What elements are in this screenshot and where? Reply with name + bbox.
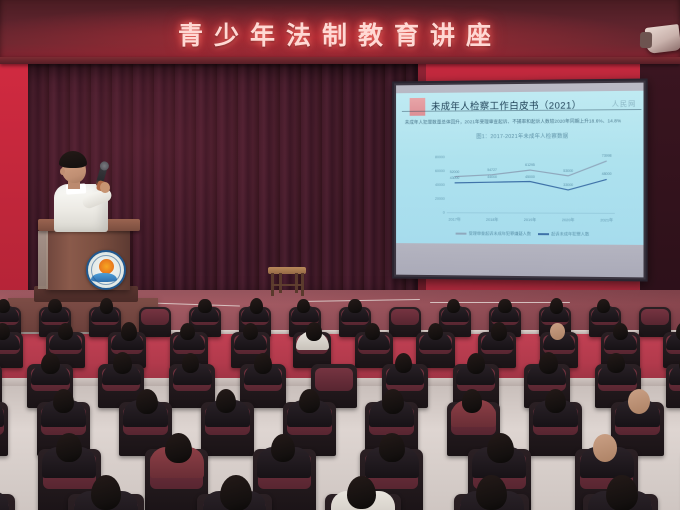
audience-member-head xyxy=(136,389,158,415)
screen-blank-area xyxy=(396,243,643,277)
audience-member-head xyxy=(447,299,459,313)
audience-member-head xyxy=(476,475,506,510)
audience-member-head xyxy=(243,323,259,341)
chart-point-label: 44000 xyxy=(487,175,497,179)
audience-member-head xyxy=(182,353,200,373)
audience-member-head xyxy=(545,389,566,413)
slide-title: 未成年人检察工作白皮书（2021） xyxy=(431,97,582,112)
chart-point-label: 54727 xyxy=(487,168,497,172)
presentation-slide: 未成年人检察工作白皮书（2021） 人民网 未成年人犯罪数量总体回升，2021年… xyxy=(396,91,643,245)
audience-member-head xyxy=(100,298,114,314)
audience-member-head xyxy=(254,353,272,374)
audience-member-head xyxy=(539,352,558,374)
audience-member-head xyxy=(379,433,405,462)
audience-member-head xyxy=(347,476,376,509)
audience-member-head xyxy=(250,298,264,314)
audience-member-head xyxy=(306,322,322,341)
audience-member-head xyxy=(41,353,59,374)
chart-legend: 受理审查起诉未成年犯罪嫌疑人数起诉未成年犯罪人数 xyxy=(417,230,629,237)
projection-screen: 未成年人检察工作白皮书（2021） 人民网 未成年人犯罪数量总体回升，2021年… xyxy=(392,78,647,281)
chart-point-label: 48000 xyxy=(602,172,612,176)
chart-x-tick: 2020年 xyxy=(562,217,575,223)
chart-y-tick: 0 xyxy=(443,211,445,215)
audience-member-head xyxy=(487,433,514,464)
audience-member-head xyxy=(467,353,485,374)
chart-point-label: 61295 xyxy=(525,163,535,167)
chart-x-tick: 2017年 xyxy=(448,217,460,223)
screen-surface: 未成年人检察工作白皮书（2021） 人民网 未成年人犯罪数量总体回升，2021年… xyxy=(396,83,643,278)
legend-label: 起诉未成年犯罪人数 xyxy=(551,231,589,237)
speaker-hair xyxy=(59,151,87,168)
school-crest-icon xyxy=(86,250,126,290)
chart-point-label: 45000 xyxy=(525,174,535,178)
audience-member-head xyxy=(91,475,121,510)
legend-label: 受理审查起诉未成年犯罪嫌疑人数 xyxy=(469,231,531,237)
audience-member-head xyxy=(58,323,74,341)
chart-x-tick: 2019年 xyxy=(524,217,537,223)
audience-member-head xyxy=(550,323,565,340)
chart-x-tick: 2021年 xyxy=(600,217,613,223)
audience-member-head xyxy=(491,322,507,341)
chart-y-tick: 40000 xyxy=(435,183,445,187)
audience-member-head xyxy=(121,322,137,341)
chart-y-tick: 20000 xyxy=(435,197,445,201)
audience-member-head xyxy=(0,299,10,313)
stool-leg xyxy=(279,273,282,293)
audience-seating xyxy=(0,296,680,510)
audience-member-head xyxy=(597,299,609,313)
chart-y-tick: 80000 xyxy=(435,155,445,159)
audience-member-head xyxy=(113,352,132,374)
audience-member-head xyxy=(462,389,482,412)
legend-swatch xyxy=(538,233,549,235)
audience-member-head xyxy=(498,299,511,314)
slide-corner-watermark: 人民网 xyxy=(612,99,637,109)
audience-member-head xyxy=(593,434,617,462)
audience-member-head xyxy=(348,299,361,314)
audience-member-head xyxy=(550,298,564,314)
chart-point-label: 33000 xyxy=(563,183,573,187)
crest-ring xyxy=(91,255,121,285)
audience-member-head xyxy=(165,433,192,464)
legend-swatch xyxy=(456,233,467,235)
stool-leg xyxy=(295,273,298,293)
wall-panel-left xyxy=(0,64,29,300)
audience-member-head xyxy=(56,433,82,462)
chart-title: 图1：2017-2021年未成年人检察数据 xyxy=(417,131,629,140)
slide-chart: 图1：2017-2021年未成年人检察数据 020000400006000080… xyxy=(417,131,629,238)
audience-member-head xyxy=(53,389,74,413)
stool-rail xyxy=(272,284,302,286)
audience-member-head xyxy=(180,323,195,340)
audience-member-head xyxy=(198,299,211,314)
audience-member-head xyxy=(297,299,309,313)
audience-member-head xyxy=(613,323,629,341)
chart-point-label: 52000 xyxy=(450,170,460,174)
seat-cushion xyxy=(315,368,353,391)
chart-x-tick: 2018年 xyxy=(486,217,498,223)
chart-point-label: 73998 xyxy=(602,154,612,158)
audience-member-head xyxy=(48,299,61,314)
chart-point-label: 43000 xyxy=(450,176,460,180)
seat-cushion xyxy=(391,309,418,325)
audience-member-head xyxy=(220,475,252,510)
chart-y-tick: 60000 xyxy=(435,169,445,173)
seat-cushion xyxy=(141,309,168,325)
audience-member-head xyxy=(271,434,295,462)
ceiling-speaker-icon xyxy=(645,24,680,54)
audience-member-head xyxy=(607,353,625,373)
chart-legend-item: 起诉未成年犯罪人数 xyxy=(538,231,589,237)
auditorium-seat xyxy=(139,307,171,337)
beam-lip xyxy=(0,57,680,64)
slide-body-text: 未成年人犯罪数量总体回升，2021年受理审查起诉、不捕率和起诉人数较2020年同… xyxy=(405,118,621,126)
event-banner-title: 青少年法制教育讲座 xyxy=(0,16,680,52)
audience-member-head xyxy=(606,475,638,510)
auditorium-photo: 青少年法制教育讲座 未成年人检察工作白皮书（2021） 人民网 未成年人犯罪数量… xyxy=(0,0,680,510)
seat-cushion xyxy=(641,309,668,325)
audience-member-head xyxy=(365,323,380,340)
audience-member-head xyxy=(216,389,236,412)
chart-point-label: 53000 xyxy=(563,169,573,173)
slide-accent-block xyxy=(410,98,426,116)
speaker-ear xyxy=(60,168,65,175)
speaker-person xyxy=(52,148,124,232)
audience-member-head xyxy=(395,353,413,373)
audience-member-head xyxy=(428,323,444,341)
chart-legend-item: 受理审查起诉未成年犯罪嫌疑人数 xyxy=(456,231,531,237)
chart-plot-area: 020000400006000080000 2017年2018年2019年202… xyxy=(447,143,615,214)
audience-member-head xyxy=(299,389,320,413)
podium-side-panel xyxy=(38,231,48,289)
auditorium-seat xyxy=(389,307,421,337)
